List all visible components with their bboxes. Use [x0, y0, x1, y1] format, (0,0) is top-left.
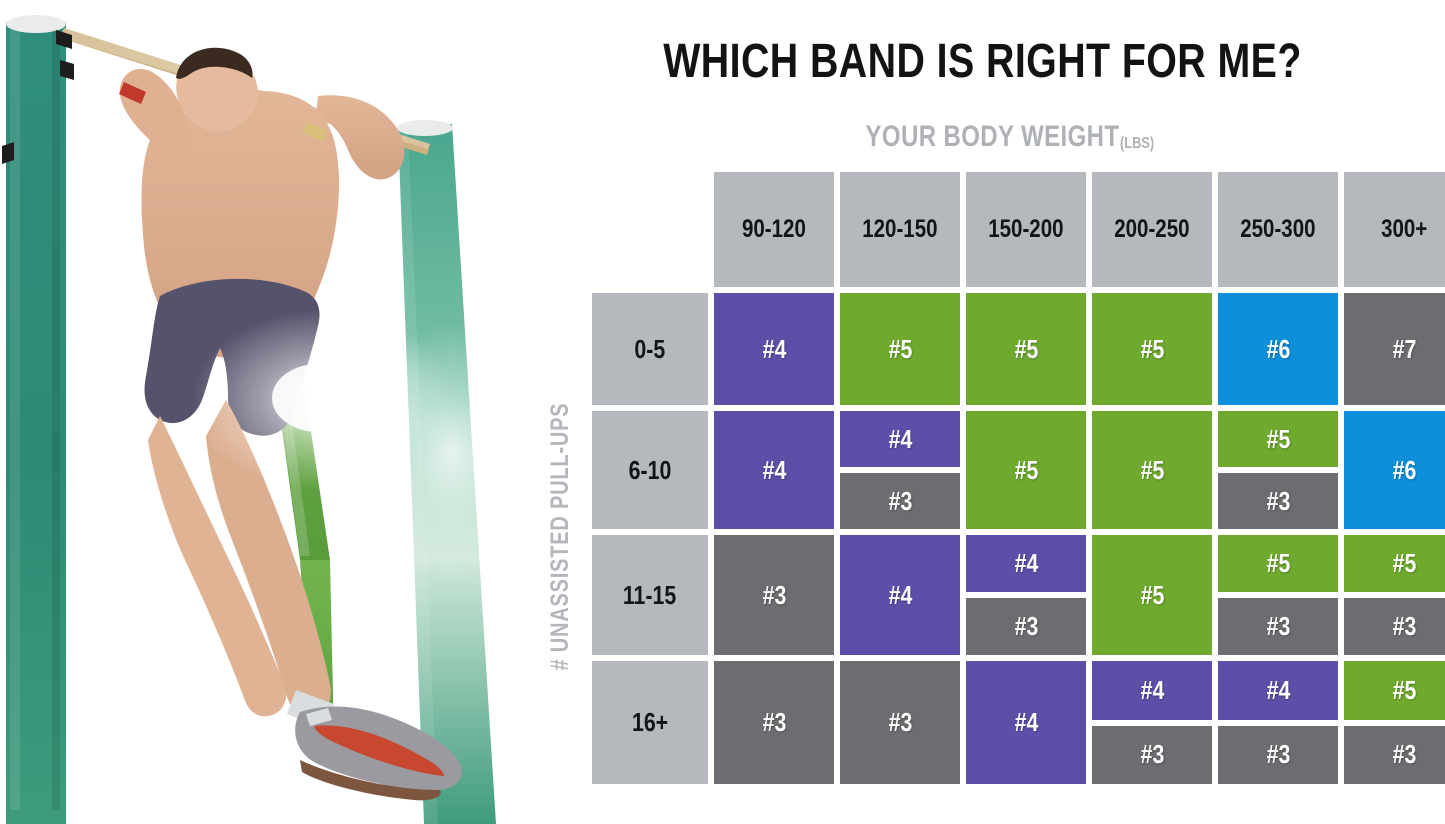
- band-label: #4: [1266, 675, 1290, 706]
- band-cell[interactable]: #5#3: [1218, 411, 1338, 529]
- band-option-5[interactable]: #5: [1218, 411, 1338, 467]
- band-cell[interactable]: #4: [714, 411, 834, 529]
- band-cell[interactable]: #5#3: [1218, 535, 1338, 655]
- y-axis-label: # UNASSISTED PULL-UPS: [546, 293, 582, 781]
- band-cell[interactable]: #5: [1092, 293, 1212, 405]
- band-option-3[interactable]: #3: [1218, 726, 1338, 785]
- band-label: #4: [1140, 675, 1164, 706]
- column-header-label: 300+: [1381, 215, 1427, 244]
- column-header-label: 120-150: [862, 215, 937, 244]
- row-header-0-5: 0-5: [592, 293, 708, 405]
- pullup-photo-illustration: [0, 0, 520, 824]
- column-header-row: 90-120120-150150-200200-250250-300300+: [592, 172, 1445, 287]
- band-cell[interactable]: #5: [966, 293, 1086, 405]
- band-label: #6: [1392, 455, 1416, 486]
- column-header-label: 90-120: [742, 215, 806, 244]
- column-header-250-300: 250-300: [1218, 172, 1338, 287]
- column-header-label: 250-300: [1240, 215, 1315, 244]
- band-label: #5: [1140, 580, 1164, 611]
- x-axis-label-main: YOUR BODY WEIGHT: [866, 120, 1120, 154]
- infographic-root: WHICH BAND IS RIGHT FOR ME? YOUR BODY WE…: [0, 0, 1445, 824]
- band-option-6[interactable]: #6: [1218, 293, 1338, 405]
- band-option-5[interactable]: #5: [1092, 535, 1212, 655]
- band-option-6[interactable]: #6: [1344, 411, 1445, 529]
- band-cell[interactable]: #4#3: [1092, 661, 1212, 784]
- band-option-3[interactable]: #3: [1344, 726, 1445, 785]
- chart-grid: 90-120120-150150-200200-250250-300300+0-…: [592, 172, 1445, 784]
- band-label: #4: [888, 424, 912, 455]
- band-label: #3: [1014, 611, 1038, 642]
- band-label: #3: [888, 707, 912, 738]
- column-header-300plus: 300+: [1344, 172, 1445, 287]
- band-option-3[interactable]: #3: [714, 535, 834, 655]
- band-cell[interactable]: #4#3: [1218, 661, 1338, 784]
- band-label: #5: [888, 334, 912, 365]
- band-cell[interactable]: #5#3: [1344, 661, 1445, 784]
- left-pole-icon: [2, 15, 74, 824]
- band-option-4[interactable]: #4: [714, 293, 834, 405]
- column-header-label: 200-250: [1114, 215, 1189, 244]
- band-cell[interactable]: #4: [714, 293, 834, 405]
- band-label: #3: [1266, 486, 1290, 517]
- band-label: #4: [888, 580, 912, 611]
- band-label: #3: [1392, 611, 1416, 642]
- row-header-label: 16+: [632, 707, 668, 738]
- band-option-3[interactable]: #3: [1092, 726, 1212, 785]
- table-row: 11-15#3#4#4#3#5#5#3#5#3: [592, 535, 1445, 655]
- grid-corner-spacer: [592, 172, 708, 287]
- band-cell[interactable]: #5#3: [1344, 535, 1445, 655]
- band-option-3[interactable]: #3: [1218, 598, 1338, 655]
- band-option-5[interactable]: #5: [1092, 293, 1212, 405]
- table-row: 0-5#4#5#5#5#6#7: [592, 293, 1445, 405]
- y-axis-label-text: # UNASSISTED PULL-UPS: [546, 403, 575, 671]
- band-cell[interactable]: #5: [840, 293, 960, 405]
- row-header-6-10: 6-10: [592, 411, 708, 529]
- band-label: #3: [1266, 611, 1290, 642]
- band-option-4[interactable]: #4: [1218, 661, 1338, 720]
- band-cell[interactable]: #5: [966, 411, 1086, 529]
- column-header-200-250: 200-250: [1092, 172, 1212, 287]
- band-cell[interactable]: #4: [840, 535, 960, 655]
- row-header-label: 11-15: [623, 580, 676, 611]
- band-option-3[interactable]: #3: [966, 598, 1086, 655]
- table-row: 16+#3#3#4#4#3#4#3#5#3: [592, 661, 1445, 784]
- band-label: #5: [1014, 334, 1038, 365]
- column-header-120-150: 120-150: [840, 172, 960, 287]
- band-option-4[interactable]: #4: [1092, 661, 1212, 720]
- band-option-7[interactable]: #7: [1344, 293, 1445, 405]
- row-header-11-15: 11-15: [592, 535, 708, 655]
- column-header-label: 150-200: [988, 215, 1063, 244]
- band-cell[interactable]: #6: [1344, 411, 1445, 529]
- band-cell[interactable]: #5: [1092, 411, 1212, 529]
- band-option-5[interactable]: #5: [966, 411, 1086, 529]
- band-option-5[interactable]: #5: [1092, 411, 1212, 529]
- band-cell[interactable]: #5: [1092, 535, 1212, 655]
- band-label: #5: [1140, 334, 1164, 365]
- band-option-5[interactable]: #5: [1344, 535, 1445, 592]
- row-header-16plus: 16+: [592, 661, 708, 784]
- band-option-4[interactable]: #4: [714, 411, 834, 529]
- band-label: #3: [762, 707, 786, 738]
- band-cell[interactable]: #3: [714, 535, 834, 655]
- band-label: #5: [1392, 675, 1416, 706]
- band-label: #4: [1014, 707, 1038, 738]
- band-option-5[interactable]: #5: [840, 293, 960, 405]
- band-label: #5: [1392, 548, 1416, 579]
- band-cell[interactable]: #7: [1344, 293, 1445, 405]
- row-header-label: 0-5: [635, 334, 666, 365]
- band-label: #6: [1266, 334, 1290, 365]
- band-cell[interactable]: #4#3: [966, 535, 1086, 655]
- band-label: #5: [1140, 455, 1164, 486]
- band-option-4[interactable]: #4: [966, 661, 1086, 784]
- band-option-4[interactable]: #4: [966, 535, 1086, 592]
- x-axis-label-unit: (LBS): [1120, 135, 1154, 153]
- band-label: #4: [762, 455, 786, 486]
- band-option-5[interactable]: #5: [1218, 535, 1338, 592]
- band-cell[interactable]: #3: [840, 661, 960, 784]
- band-option-3[interactable]: #3: [840, 473, 960, 529]
- band-option-4[interactable]: #4: [840, 411, 960, 467]
- x-axis-label: YOUR BODY WEIGHT(LBS): [520, 120, 1445, 154]
- band-label: #4: [1014, 548, 1038, 579]
- column-header-90-120: 90-120: [714, 172, 834, 287]
- table-row: 6-10#4#4#3#5#5#5#3#6: [592, 411, 1445, 529]
- band-label: #5: [1266, 548, 1290, 579]
- band-option-3[interactable]: #3: [1344, 598, 1445, 655]
- band-label: #3: [762, 580, 786, 611]
- hero-photo: [0, 0, 520, 824]
- band-cell[interactable]: #3: [714, 661, 834, 784]
- band-label: #5: [1014, 455, 1038, 486]
- band-label: #7: [1392, 334, 1416, 365]
- band-label: #3: [888, 486, 912, 517]
- band-option-3[interactable]: #3: [1218, 473, 1338, 529]
- column-header-150-200: 150-200: [966, 172, 1086, 287]
- band-option-4[interactable]: #4: [840, 535, 960, 655]
- row-header-label: 6-10: [629, 455, 672, 486]
- chart-title: WHICH BAND IS RIGHT FOR ME?: [603, 34, 1362, 89]
- band-label: #3: [1266, 739, 1290, 770]
- band-label: #5: [1266, 424, 1290, 455]
- band-cell[interactable]: #4: [966, 661, 1086, 784]
- band-label: #4: [762, 334, 786, 365]
- band-option-3[interactable]: #3: [840, 661, 960, 784]
- band-cell[interactable]: #6: [1218, 293, 1338, 405]
- band-selection-chart: WHICH BAND IS RIGHT FOR ME? YOUR BODY WE…: [520, 0, 1445, 824]
- band-option-3[interactable]: #3: [714, 661, 834, 784]
- band-label: #3: [1140, 739, 1164, 770]
- band-option-5[interactable]: #5: [966, 293, 1086, 405]
- band-cell[interactable]: #4#3: [840, 411, 960, 529]
- band-label: #3: [1392, 739, 1416, 770]
- band-option-5[interactable]: #5: [1344, 661, 1445, 720]
